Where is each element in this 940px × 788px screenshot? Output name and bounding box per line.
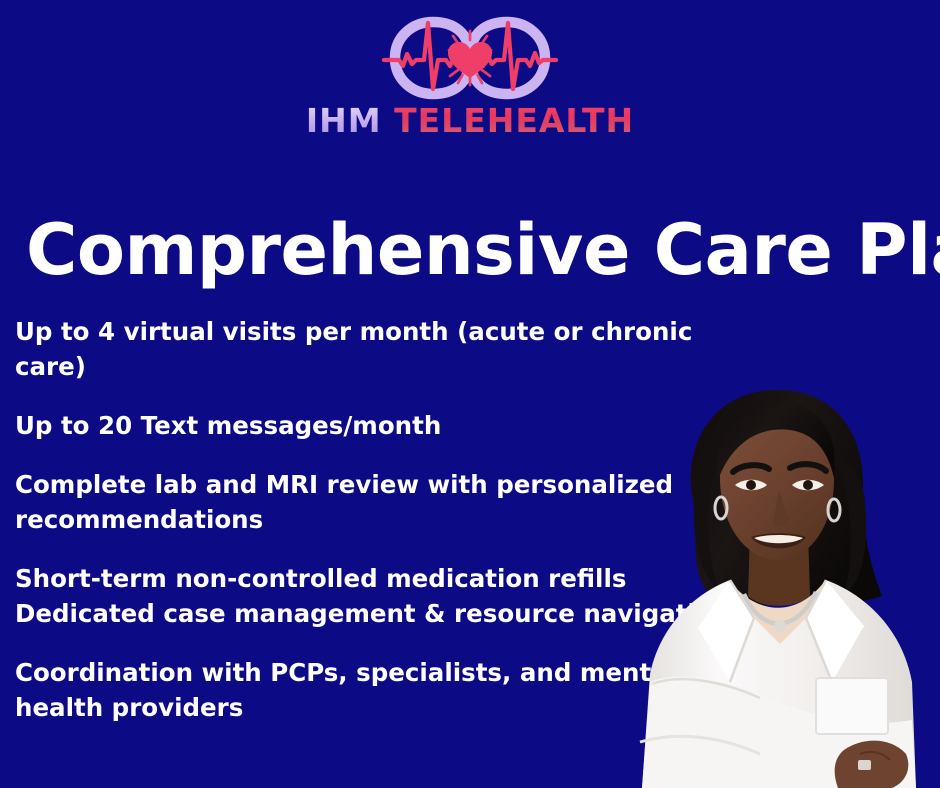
coat-lapel-right <box>806 580 864 682</box>
page-title: Comprehensive Care Plan <box>26 215 916 285</box>
list-item: Up to 4 virtual visits per month (acute … <box>15 314 675 384</box>
infinity-ecg-heart-logo-icon <box>370 14 570 102</box>
brand-logo: IHM TELEHEALTH <box>0 14 940 137</box>
hair <box>691 390 882 605</box>
care-plan-slide: IHM TELEHEALTH Comprehensive Care Plan U… <box>0 0 940 788</box>
ring <box>858 760 871 770</box>
pupil-right <box>803 480 813 490</box>
hair-left <box>694 462 718 588</box>
list-item: Short-term non-controlled medication ref… <box>15 561 675 631</box>
finger-line <box>860 752 890 760</box>
nose <box>773 490 790 526</box>
blouse-button <box>764 656 772 664</box>
hand <box>835 741 909 788</box>
neck <box>748 532 810 606</box>
wordmark-telehealth: TELEHEALTH <box>394 101 634 140</box>
mouth <box>751 533 806 548</box>
necklace-pendant <box>774 620 786 632</box>
hairline <box>717 402 835 480</box>
eyebrow-left <box>733 465 769 472</box>
list-item: Up to 20 Text messages/month <box>15 408 675 443</box>
teeth <box>754 535 803 543</box>
list-item: Complete lab and MRI review with persona… <box>15 467 675 537</box>
necklace <box>744 592 816 624</box>
brand-wordmark: IHM TELEHEALTH <box>0 104 940 137</box>
blouse-button <box>766 698 775 707</box>
pupil-left <box>746 480 756 490</box>
benefit-line: care) <box>15 349 675 384</box>
eyebrow-right <box>790 464 826 471</box>
wordmark-ihm: IHM <box>306 101 382 140</box>
earring-right <box>828 499 840 521</box>
benefit-line: Up to 20 Text messages/month <box>15 408 675 443</box>
benefits-list: Up to 4 virtual visits per month (acute … <box>15 314 675 725</box>
crossed-arms <box>642 677 916 788</box>
coat-lapel-left <box>698 580 754 682</box>
cuff-line <box>640 736 760 754</box>
eye-left <box>735 480 767 491</box>
benefit-line: recommendations <box>15 502 675 537</box>
list-item: Coordination with PCPs, specialists, and… <box>15 655 675 725</box>
benefit-line: Short-term non-controlled medication ref… <box>15 561 675 596</box>
benefit-line: Up to 4 virtual visits per month (acute … <box>15 314 675 349</box>
benefit-line: Coordination with PCPs, specialists, and… <box>15 655 675 690</box>
coat-pocket <box>816 678 888 734</box>
eye-right <box>792 480 824 491</box>
benefit-line: Dedicated case management & resource nav… <box>15 596 675 631</box>
benefit-line: health providers <box>15 690 675 725</box>
face <box>720 410 834 560</box>
lapel-seam-right <box>806 580 832 682</box>
earring-left <box>715 497 727 519</box>
hair-right <box>834 460 866 594</box>
benefit-line: Complete lab and MRI review with persona… <box>15 467 675 502</box>
lapel-seam-left <box>730 580 754 682</box>
